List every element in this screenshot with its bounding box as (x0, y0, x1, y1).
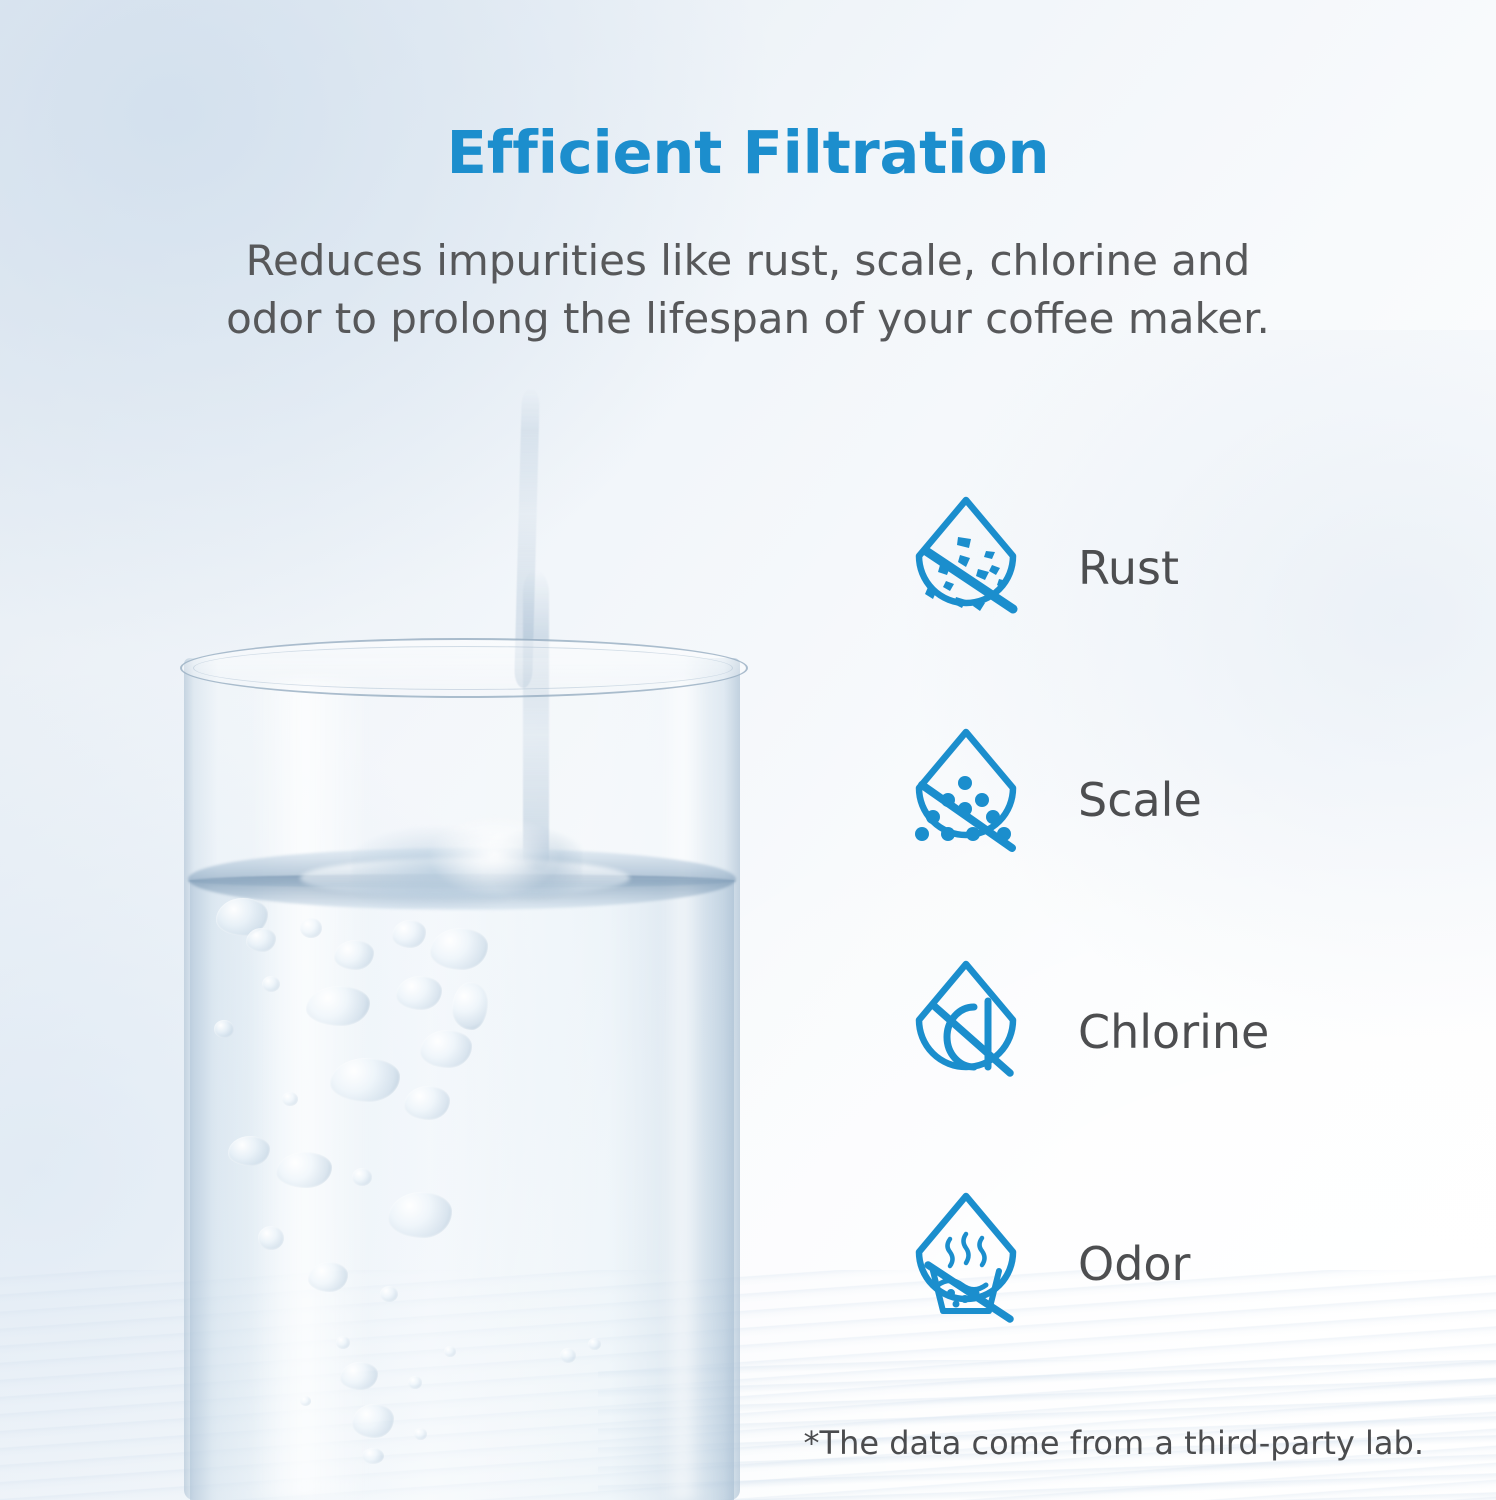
bubble (420, 1030, 472, 1068)
bubble (408, 1376, 422, 1389)
bubble (444, 1346, 456, 1357)
bubble (352, 1404, 394, 1438)
bubble (392, 920, 426, 948)
bubble (340, 1362, 378, 1390)
feature-label-scale: Scale (1078, 777, 1202, 823)
filtration-feature-list: Rust (900, 452, 1460, 1380)
feature-row-chlorine: Chlorine (900, 916, 1460, 1148)
bubble (276, 1152, 332, 1188)
bubble (588, 1338, 601, 1350)
feature-label-odor: Odor (1078, 1241, 1190, 1287)
bubble (414, 1428, 427, 1440)
bubble (334, 940, 374, 970)
bubble (300, 918, 322, 938)
feature-row-scale: Scale (900, 684, 1460, 916)
bubble (262, 976, 280, 992)
bubble (214, 1020, 234, 1038)
bubble (258, 1226, 284, 1250)
page-subtitle-line-1: Reduces impurities like rust, scale, chl… (100, 232, 1396, 290)
bubble (560, 1348, 576, 1363)
bubble (380, 1286, 398, 1302)
bubble (246, 928, 276, 952)
feature-row-odor: Odor (900, 1148, 1460, 1380)
bubble (430, 928, 488, 970)
droplet-odor-blocked-icon (900, 1189, 1032, 1339)
bubble (282, 1092, 298, 1106)
marketing-image-canvas: Efficient Filtration Reduces impurities … (0, 0, 1496, 1500)
bubble (396, 976, 442, 1010)
bubble (228, 1136, 270, 1166)
bubble-cluster (0, 380, 800, 1500)
droplet-chlorine-blocked-icon (900, 957, 1032, 1107)
bubble (308, 1262, 348, 1292)
page-subtitle-line-2: odor to prolong the lifespan of your cof… (100, 290, 1396, 348)
bubble (362, 1448, 384, 1464)
footnote-disclaimer: *The data come from a third-party lab. (804, 1424, 1424, 1462)
bubble (306, 986, 370, 1026)
bubble (452, 982, 488, 1030)
bubble (352, 1168, 372, 1186)
glass-of-water-photo (0, 380, 800, 1500)
feature-row-rust: Rust (900, 452, 1460, 684)
feature-label-rust: Rust (1078, 545, 1179, 591)
page-title: Efficient Filtration (0, 122, 1496, 184)
droplet-scale-blocked-icon (900, 725, 1032, 875)
page-subtitle: Reduces impurities like rust, scale, chl… (100, 232, 1396, 348)
bubble (300, 1396, 311, 1406)
bubble (404, 1086, 450, 1120)
bubble (388, 1192, 452, 1238)
bubble (330, 1058, 400, 1102)
feature-label-chlorine: Chlorine (1078, 1009, 1269, 1055)
bubble (336, 1336, 350, 1349)
droplet-rust-blocked-icon (900, 493, 1032, 643)
